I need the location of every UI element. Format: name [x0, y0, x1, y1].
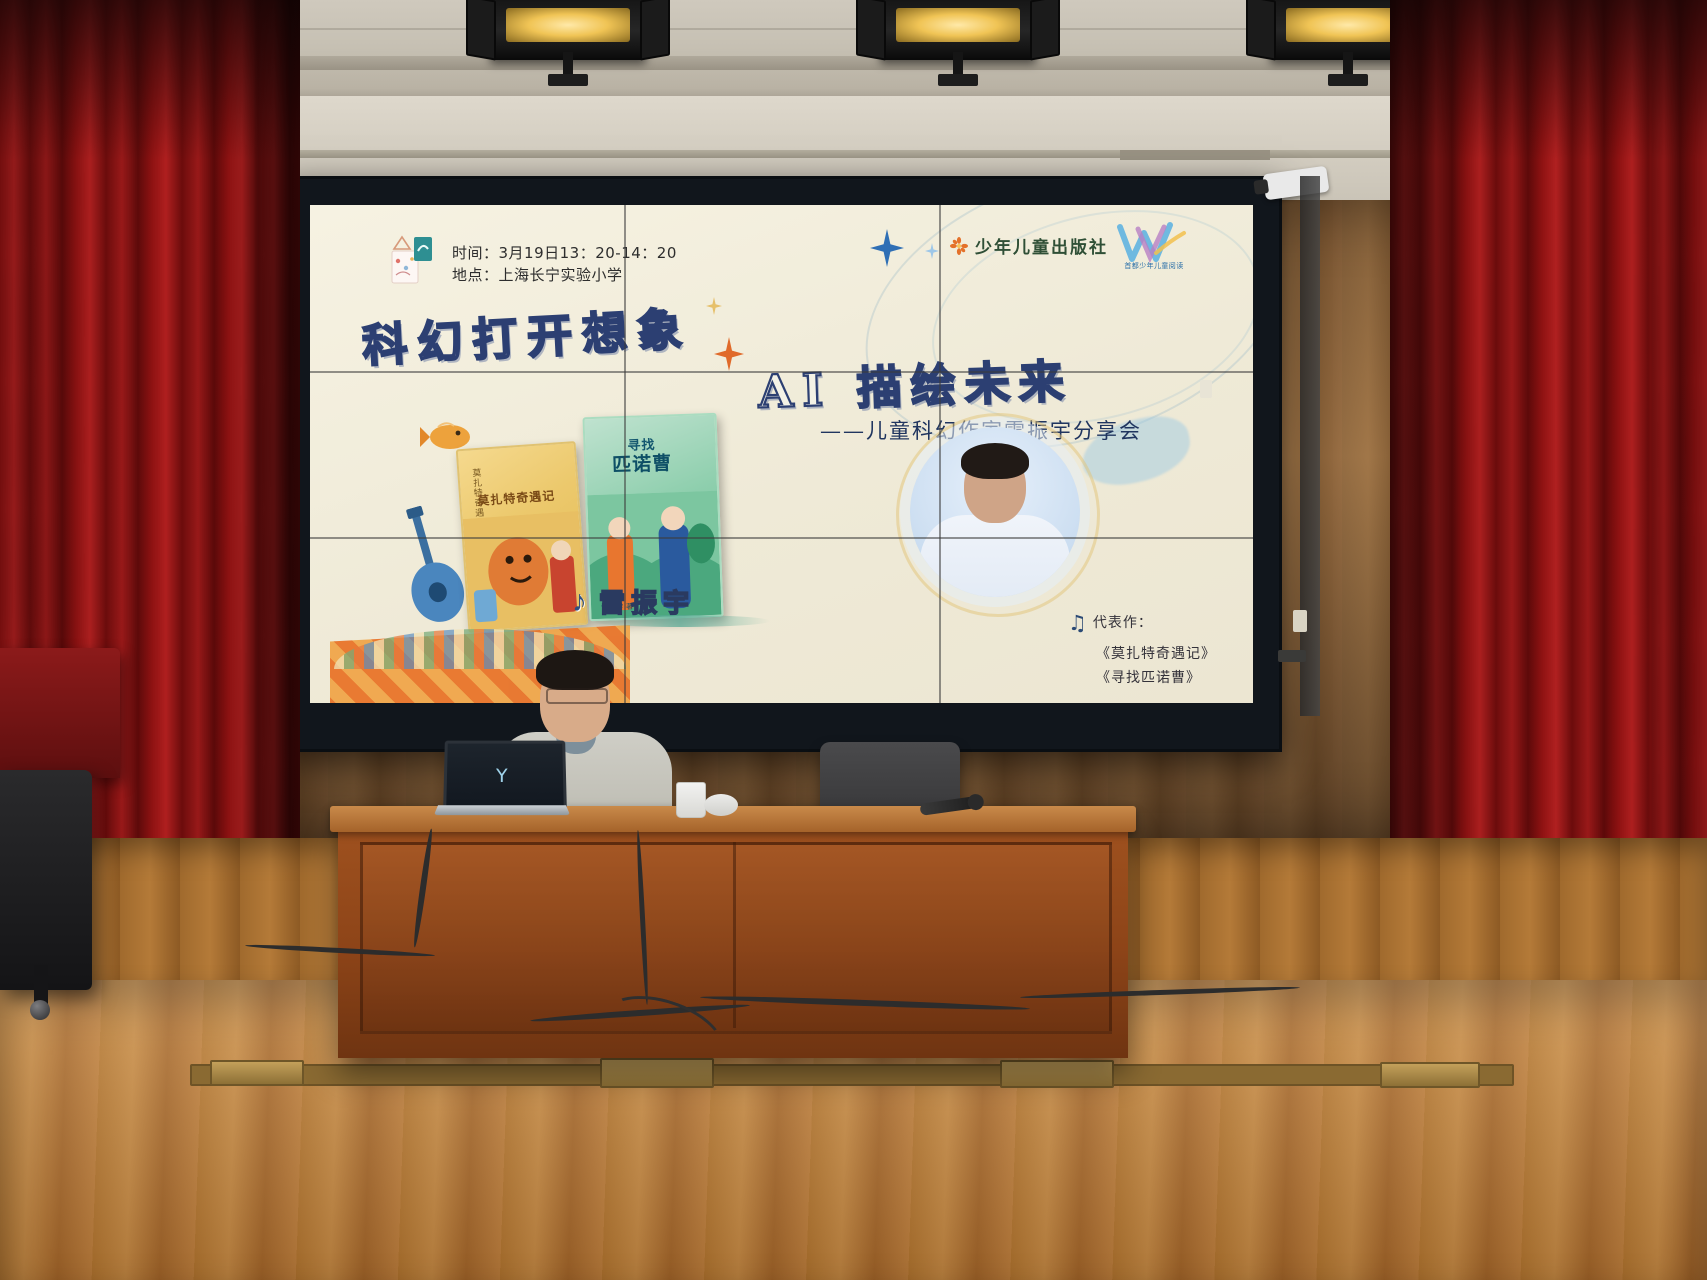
- soffit: [250, 150, 1490, 158]
- sparkle-orange-icon: [714, 337, 744, 371]
- works-list-item: 《莫扎特奇遇记》: [1096, 642, 1216, 667]
- side-table: [0, 648, 120, 778]
- sparkle-small-icon: [925, 243, 939, 259]
- upright-piano: [0, 770, 92, 990]
- cup[interactable]: [676, 782, 706, 818]
- presenter-hair: [536, 650, 614, 690]
- presenter-desk: [338, 818, 1128, 1058]
- video-wall-seam: [310, 537, 1253, 539]
- stage-light: [490, 0, 646, 60]
- partner-logo-label: 首都少年儿童阅读: [1116, 261, 1192, 271]
- book-2-title-big: 匹诺曹: [612, 453, 673, 477]
- saucer[interactable]: [704, 794, 738, 816]
- video-wall-seam: [624, 205, 626, 703]
- laptop-keyboard[interactable]: [434, 805, 570, 815]
- piano-caster: [30, 1000, 50, 1020]
- presenter-glasses-icon: [546, 688, 608, 704]
- laptop-logo: Y: [496, 765, 508, 787]
- book-2-title-small: 寻找: [627, 438, 656, 454]
- book-1-artwork: [463, 511, 587, 630]
- works-list-item: 《寻找匹诺曹》: [1096, 666, 1216, 691]
- event-meta: 时间：3月19日13：20-14：20 地点：上海长宁实验小学: [452, 243, 677, 287]
- floor-socket-plate[interactable]: [210, 1060, 304, 1086]
- floor-inlay-strip: [190, 1064, 1514, 1086]
- sparkle-blue-icon: [870, 229, 904, 267]
- book-2-title: 寻找 匹诺曹: [611, 438, 672, 477]
- music-note-icon: ♫: [1068, 605, 1088, 642]
- works-header: ♫ 代表作：: [1068, 605, 1216, 642]
- event-location: 地点：上海长宁实验小学: [452, 266, 623, 284]
- floor-socket-plate[interactable]: [1380, 1062, 1480, 1088]
- music-note-icon: ♪: [572, 585, 587, 619]
- cable-tray: [1120, 150, 1270, 160]
- works-label: 代表作：: [1093, 611, 1153, 636]
- flower-mark-icon: [950, 237, 968, 255]
- presentation-slide: 时间：3月19日13：20-14：20 地点：上海长宁实验小学: [310, 205, 1253, 703]
- speaker-portrait: [910, 427, 1080, 597]
- video-wall-seam: [310, 371, 1253, 373]
- wall-vent: [1200, 380, 1212, 398]
- slide-title-main: 科幻打开想象: [361, 292, 694, 374]
- portrait-body: [920, 515, 1070, 597]
- partner-logo-icon: [1116, 219, 1192, 281]
- publisher-logo: 少年儿童出版社: [950, 233, 1108, 258]
- laptop-screen[interactable]: Y: [443, 741, 567, 811]
- wall-outlet[interactable]: [1278, 650, 1306, 662]
- slide-title-sub: AI 描绘未来: [757, 345, 1074, 421]
- book-1-title: 莫扎特奇遇记: [477, 487, 556, 509]
- wall-speaker: [1300, 176, 1320, 716]
- video-wall-seam: [939, 205, 941, 703]
- wall-switch[interactable]: [1293, 610, 1307, 632]
- publisher-name: 少年儿童出版社: [975, 233, 1108, 258]
- sparkle-small-icon: [706, 297, 722, 315]
- name-underline: [590, 615, 770, 627]
- works-list: 《莫扎特奇遇记》 《寻找匹诺曹》: [1068, 642, 1216, 691]
- laptop[interactable]: Y: [436, 740, 568, 818]
- floor-socket-plate[interactable]: [1000, 1060, 1114, 1088]
- video-wall-frame: 时间：3月19日13：20-14：20 地点：上海长宁实验小学: [281, 176, 1282, 752]
- stage-light: [880, 0, 1036, 60]
- portrait-hair: [961, 443, 1029, 479]
- event-time: 时间：3月19日13：20-14：20: [452, 244, 677, 262]
- video-wall-display: 时间：3月19日13：20-14：20 地点：上海长宁实验小学: [310, 205, 1253, 703]
- representative-works: ♫ 代表作： 《莫扎特奇遇记》 《寻找匹诺曹》: [1068, 605, 1216, 691]
- hanging-tag-icon: [388, 235, 434, 293]
- scene-root: 时间：3月19日13：20-14：20 地点：上海长宁实验小学: [0, 0, 1707, 1280]
